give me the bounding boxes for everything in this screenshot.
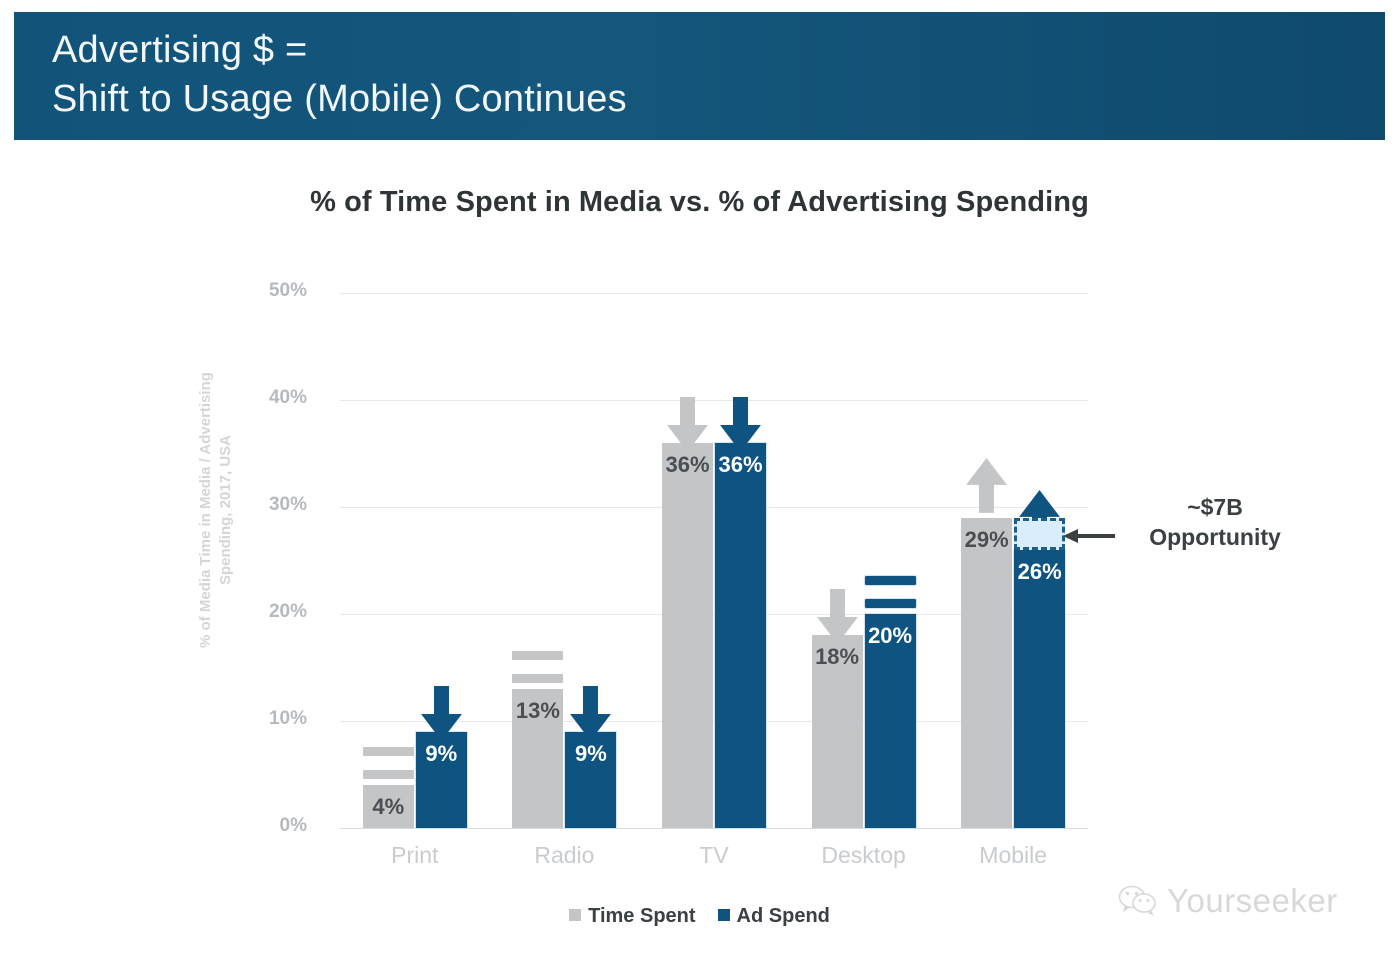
bar-tv-time-spent[interactable]: 36% [662,443,713,828]
bar-radio-time-spent[interactable]: 13% [512,689,563,828]
y-axis-tick-label: 50% [237,280,307,302]
gridline [340,828,1088,829]
equals-icon [512,651,563,683]
y-axis-tick-label: 30% [237,494,307,516]
bar-desktop-ad-spend[interactable]: 20% [865,614,916,828]
gridline [340,400,1088,401]
header-title-line-2: Shift to Usage (Mobile) Continues [52,75,1385,124]
bar-value-label: 26% [1014,559,1065,585]
x-axis-label-mobile: Mobile [938,842,1088,869]
y-axis-label: % of Media Time in Media / Advertising S… [196,340,236,680]
bar-print-ad-spend[interactable]: 9% [416,732,467,828]
down-arrow-icon [569,686,612,742]
bar-radio-ad-spend[interactable]: 9% [565,732,616,828]
equals-icon-bar [512,651,563,660]
equals-icon-bar [363,770,414,779]
chart-title: % of Time Spent in Media vs. % of Advert… [0,186,1399,219]
x-axis-label-tv: TV [639,842,789,869]
y-axis-tick-label: 10% [237,708,307,730]
x-axis-label-print: Print [340,842,490,869]
bar-value-label: 9% [416,741,467,767]
opportunity-callout: ~$7B Opportunity [1110,492,1320,552]
bar-tv-ad-spend[interactable]: 36% [715,443,766,828]
equals-icon-bar [865,576,916,585]
down-arrow-icon [816,589,859,645]
bar-value-label: 36% [715,452,766,478]
bar-value-label: 9% [565,741,616,767]
y-axis-tick-label: 40% [237,387,307,409]
down-arrow-icon [719,397,762,453]
legend-label: Time Spent [588,905,695,927]
bar-mobile-time-spent[interactable]: 29% [961,518,1012,828]
equals-icon-bar [865,599,916,608]
opportunity-arrow-icon [1063,529,1115,543]
x-axis-label-radio: Radio [490,842,640,869]
equals-icon [865,576,916,608]
slide-header-banner: Advertising $ = Shift to Usage (Mobile) … [14,12,1385,140]
legend-swatch [718,909,730,921]
bar-value-label: 18% [812,644,863,670]
y-axis-tick-label: 20% [237,601,307,623]
watermark-label: Yourseeker [1167,882,1338,920]
chart-plot-area: 4%9%13%9%36%36%18%20%29%26% [340,293,1088,828]
bar-value-label: 36% [662,452,713,478]
legend-item[interactable]: Time Spent [569,905,695,928]
y-axis-label-text: % of Media Time in Media / Advertising S… [196,340,236,680]
bar-value-label: 4% [363,794,414,820]
equals-icon-bar [512,674,563,683]
bar-value-label: 20% [865,623,916,649]
bar-value-label: 29% [961,527,1012,553]
opportunity-amount: ~$7B [1110,492,1320,522]
legend-swatch [569,909,581,921]
header-title-line-1: Advertising $ = [52,26,1385,75]
bar-mobile-ad-spend[interactable]: 26% [1014,550,1065,828]
legend-item[interactable]: Ad Spend [718,905,830,928]
bar-print-time-spent[interactable]: 4% [363,785,414,828]
wechat-icon [1118,884,1158,918]
watermark: Yourseeker [1118,882,1338,920]
bar-desktop-time-spent[interactable]: 18% [812,635,863,828]
equals-icon-bar [363,747,414,756]
gridline [340,293,1088,294]
opportunity-box[interactable] [1014,518,1065,550]
bar-value-label: 13% [512,698,563,724]
x-axis-label-desktop: Desktop [789,842,939,869]
up-arrow-icon [965,458,1008,514]
down-arrow-icon [420,686,463,742]
down-arrow-icon [666,397,709,453]
legend-label: Ad Spend [737,905,830,927]
opportunity-label: Opportunity [1110,522,1320,552]
equals-icon [363,747,414,779]
y-axis-tick-label: 0% [237,815,307,837]
